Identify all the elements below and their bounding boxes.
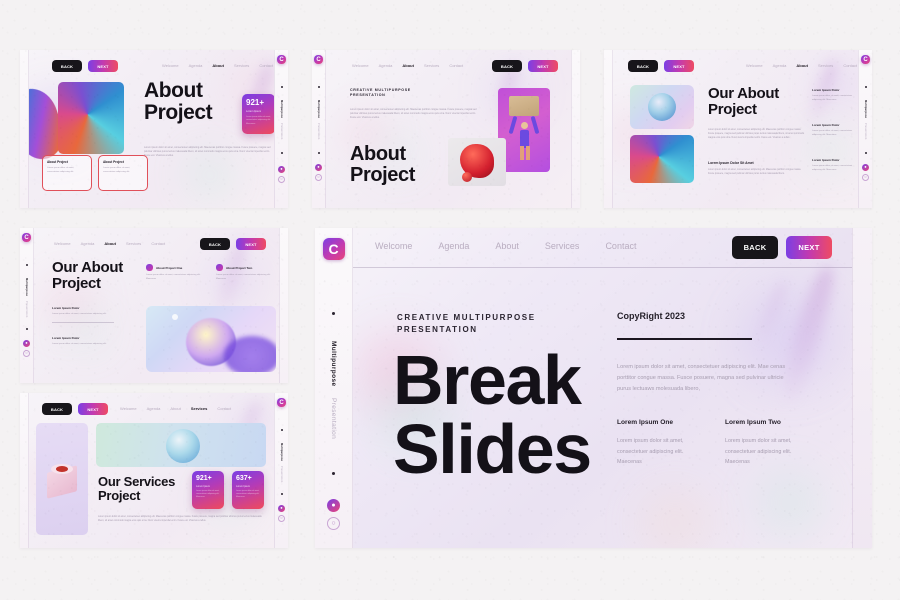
- next-button[interactable]: NEXT: [236, 238, 266, 250]
- location-pin-icon[interactable]: ○: [315, 174, 322, 181]
- column-heading: Lorem Ipsum Two: [725, 419, 805, 426]
- rail-label-bold: Multipurpose: [864, 100, 867, 118]
- nav-item-services[interactable]: Services: [234, 63, 249, 68]
- nav-item-agenda[interactable]: Agenda: [438, 241, 469, 251]
- user-avatar-icon[interactable]: ●: [278, 166, 285, 173]
- logo-letter: C: [316, 57, 320, 63]
- rail-label-bold: Multipurpose: [280, 443, 283, 461]
- column-text: Lorem ipsum dolor sit amet, consectetuer…: [617, 436, 697, 468]
- rail-right: [279, 228, 288, 383]
- rail-left: [604, 50, 613, 208]
- title-line-1: Our About: [52, 260, 123, 276]
- dot-icon: [281, 493, 283, 495]
- back-button[interactable]: BACK: [52, 60, 82, 72]
- nav-item-welcome[interactable]: Welcome: [352, 63, 369, 68]
- user-avatar-icon[interactable]: ●: [862, 164, 869, 171]
- left-item-text: Lorem ipsum dolor sit amet, consectetuer…: [52, 313, 114, 317]
- title-line-2: Project: [350, 165, 415, 186]
- logo-c-icon[interactable]: C: [277, 55, 286, 64]
- side-item-heading: Lorem Ipsum Dolor: [812, 88, 860, 92]
- rail-right: C Multipurpose Presentation ● ○: [274, 393, 288, 548]
- stat-text: Lorem ipsum dolor sit amet, consectetuer…: [196, 490, 220, 500]
- rail-right: [571, 50, 580, 208]
- dot-icon: [332, 312, 335, 315]
- kicker-line-2: PRESENTATION: [350, 93, 411, 98]
- logo-letter: C: [279, 400, 283, 406]
- nav-item-services[interactable]: Services: [818, 63, 833, 68]
- dot-icon: [332, 472, 335, 475]
- feature-item: About Project One Lorem ipsum dolor sit …: [146, 264, 206, 282]
- rail-left: C Multipurpose Presentation ● ○: [315, 228, 353, 548]
- feature-icon: [216, 264, 223, 271]
- rail-right: [852, 228, 872, 548]
- logo-c-icon[interactable]: C: [277, 398, 286, 407]
- logo-c-icon[interactable]: C: [22, 233, 31, 242]
- back-button[interactable]: BACK: [200, 238, 230, 250]
- column-text: Lorem ipsum dolor sit amet, consectetuer…: [725, 436, 805, 468]
- slide-title: Our Services Project: [98, 475, 175, 503]
- rail-label-bold: Multipurpose: [280, 100, 283, 118]
- side-item-heading: Lorem Ipsum Dolor: [812, 123, 860, 127]
- title-line-1: About: [350, 144, 415, 165]
- nav-item-agenda[interactable]: Agenda: [379, 63, 393, 68]
- rail-right: C Multipurpose Presentation ● ○: [274, 50, 288, 208]
- slide-body-text: Lorem ipsum dolor sit amet, consectetuer…: [350, 108, 478, 121]
- slide-body-text: Lorem ipsum dolor sit amet, consectetuer…: [98, 515, 264, 523]
- next-button[interactable]: NEXT: [786, 236, 832, 259]
- title-line-1: Our About: [708, 86, 779, 102]
- nav-item-welcome[interactable]: Welcome: [120, 406, 137, 411]
- side-item-heading: Lorem Ipsum Dolor: [812, 158, 860, 162]
- rail-label-light: Presentation: [330, 398, 337, 439]
- kicker-line-1: CREATIVE MULTIPURPOSE: [397, 312, 536, 324]
- title-line-2: Project: [98, 489, 175, 503]
- nav-item-contact[interactable]: Contact: [259, 63, 273, 68]
- stat-caption: Lorem Ipsum: [196, 485, 220, 488]
- slide-kicker: CREATIVE MULTIPURPOSE PRESENTATION: [350, 88, 411, 98]
- main-right-column: CopyRight 2023 Lorem ipsum dolor sit ame…: [617, 311, 807, 468]
- nav-item-about[interactable]: About: [495, 241, 519, 251]
- feature-text: Lorem ipsum dolor sit amet, consectetuer…: [146, 274, 206, 282]
- next-button[interactable]: NEXT: [664, 60, 694, 72]
- horizontal-rule: [617, 338, 752, 340]
- disc-sphere-art: [630, 135, 694, 183]
- slide-3-buttons: BACK NEXT: [628, 60, 694, 72]
- left-item: Lorem Ipsum Dolor Lorem ipsum dolor sit …: [52, 336, 114, 347]
- slide-about-project-2[interactable]: C Multipurpose Presentation ● ○ Welcome …: [312, 50, 580, 208]
- nav-item-welcome[interactable]: Welcome: [375, 241, 412, 251]
- nav-item-agenda[interactable]: Agenda: [147, 406, 161, 411]
- stat-text: Lorem ipsum dolor sit amet, consectetuer…: [246, 116, 271, 126]
- back-button[interactable]: BACK: [628, 60, 658, 72]
- slide-title: About Project: [350, 144, 415, 186]
- feature-text: Lorem ipsum dolor sit amet, consectetuer…: [216, 274, 276, 282]
- rail-label-light: Presentation: [280, 466, 283, 482]
- left-item-text: Lorem ipsum dolor sit amet, consectetuer…: [52, 343, 114, 347]
- logo-letter: C: [863, 57, 867, 63]
- title-line-2: Slides: [393, 415, 591, 484]
- slide-5-buttons: BACK NEXT: [42, 403, 108, 415]
- user-avatar-icon[interactable]: ●: [23, 340, 30, 347]
- nav-item-contact[interactable]: Contact: [151, 241, 165, 246]
- back-button[interactable]: BACK: [42, 403, 72, 415]
- rail-label-bold: Multipurpose: [317, 100, 320, 118]
- user-avatar-icon[interactable]: ●: [278, 505, 285, 512]
- side-item: Lorem Ipsum Dolor Lorem ipsum dolor sit …: [812, 158, 860, 173]
- slide-our-services-project[interactable]: C Multipurpose Presentation ● ○ BACK NEX…: [20, 393, 288, 548]
- stat-value: 921+: [246, 99, 271, 107]
- slide-2-buttons: BACK NEXT: [492, 60, 558, 72]
- location-pin-icon[interactable]: ○: [23, 350, 30, 357]
- side-item-text: Lorem ipsum dolor sit amet, consectetuer…: [812, 165, 860, 173]
- nav-item-contact[interactable]: Contact: [843, 63, 857, 68]
- next-button[interactable]: NEXT: [78, 403, 108, 415]
- location-pin-icon[interactable]: ○: [862, 174, 869, 181]
- nav-item-contact[interactable]: Contact: [605, 241, 636, 251]
- nav-item-services[interactable]: Services: [126, 241, 141, 246]
- slide-break-slides[interactable]: C Multipurpose Presentation ● ○ Welcome …: [315, 228, 872, 548]
- dot-icon: [865, 152, 867, 154]
- main-paragraph: Lorem ipsum dolor sit amet, consectetuer…: [617, 362, 795, 396]
- nav-item-about[interactable]: About: [796, 63, 808, 68]
- nav-item-services[interactable]: Services: [545, 241, 580, 251]
- rail-label-light: Presentation: [25, 301, 28, 317]
- rail-left: [20, 393, 29, 548]
- card-text: Lorem ipsum dolor sit amet, consectetuer…: [47, 167, 87, 175]
- stat-caption: Lorem Ipsum: [236, 485, 260, 488]
- title-line-2: Project: [708, 102, 779, 118]
- red-sculpture-art: [448, 138, 506, 186]
- slide-our-about-project-1[interactable]: C Multipurpose Presentation ● ○ BACK NEX…: [604, 50, 872, 208]
- rail-label-light: Presentation: [864, 123, 867, 139]
- nav-item-agenda[interactable]: Agenda: [81, 241, 95, 246]
- rail-left: C Multipurpose Presentation ● ○: [20, 228, 34, 383]
- feature-icon: [146, 264, 153, 271]
- left-item-heading: Lorem Ipsum Dolor: [52, 336, 114, 340]
- stat-text: Lorem ipsum dolor sit amet, consectetuer…: [236, 490, 260, 500]
- back-button[interactable]: BACK: [492, 60, 522, 72]
- nav-menu: Welcome Agenda About Services Contact: [54, 241, 165, 246]
- location-pin-icon[interactable]: ○: [278, 176, 285, 183]
- abstract-sphere-art: [146, 306, 276, 372]
- feature-heading: About Project One: [156, 266, 182, 270]
- disc-sphere-art: [58, 82, 124, 154]
- dot-icon: [26, 264, 28, 266]
- feature-item: About Project Two Lorem ipsum dolor sit …: [216, 264, 276, 282]
- rail-label-light: Presentation: [317, 123, 320, 139]
- card-heading: About Project: [103, 160, 143, 164]
- main-column: Lorem Ipsum One Lorem ipsum dolor sit am…: [617, 419, 697, 468]
- main-column: Lorem Ipsum Two Lorem ipsum dolor sit am…: [725, 419, 805, 468]
- side-item: Lorem Ipsum Dolor Lorem ipsum dolor sit …: [812, 88, 860, 103]
- left-item-heading: Lorem Ipsum Dolor: [52, 306, 114, 310]
- nav-menu: Welcome Agenda About Services Contact: [352, 63, 463, 68]
- nav-menu: Welcome Agenda About Services Contact: [162, 63, 273, 68]
- location-pin-icon[interactable]: ○: [278, 515, 285, 522]
- title-line-1: Break: [393, 346, 591, 415]
- card-heading: About Project: [47, 160, 87, 164]
- slide-body-text: Lorem ipsum dolor sit amet, consectetuer…: [708, 128, 806, 140]
- rail-left: [20, 50, 29, 208]
- nav-menu: Welcome Agenda About Services Contact: [746, 63, 857, 68]
- logo-c-icon[interactable]: C: [323, 238, 345, 260]
- next-button[interactable]: NEXT: [528, 60, 558, 72]
- globe-art: [630, 85, 694, 129]
- rail-label-light: Presentation: [280, 123, 283, 139]
- feature-heading: About Project Two: [226, 266, 252, 270]
- outline-card: About Project Lorem ipsum dolor sit amet…: [42, 155, 92, 191]
- stat-value: 637+: [236, 475, 260, 482]
- globe-banner-art: [96, 423, 266, 467]
- main-title: Break Slides: [393, 346, 591, 483]
- dot-icon: [26, 328, 28, 330]
- dot-icon: [318, 152, 320, 154]
- user-avatar-icon[interactable]: ●: [315, 164, 322, 171]
- nav-item-about[interactable]: About: [212, 63, 224, 68]
- title-line-1: Our Services: [98, 475, 175, 489]
- left-item: Lorem Ipsum Dolor Lorem ipsum dolor sit …: [52, 306, 114, 322]
- dot-icon: [281, 152, 283, 154]
- dot-icon: [281, 86, 283, 88]
- nav-item-about[interactable]: About: [402, 63, 414, 68]
- nav-item-agenda[interactable]: Agenda: [189, 63, 203, 68]
- cube-art-panel: [36, 423, 88, 535]
- rail-right: C Multipurpose Presentation ● ○: [858, 50, 872, 208]
- card-text: Lorem ipsum dolor sit amet, consectetuer…: [103, 167, 143, 175]
- title-line-2: Project: [144, 102, 212, 124]
- side-item: Lorem Ipsum Dolor Lorem ipsum dolor sit …: [812, 123, 860, 138]
- stat-card: 921+ Lorem Ipsum Lorem ipsum dolor sit a…: [192, 471, 224, 509]
- nav-item-welcome[interactable]: Welcome: [54, 241, 71, 246]
- slide-title: Our About Project: [52, 260, 123, 292]
- nav-menu: Welcome Agenda About Services Contact: [375, 241, 636, 251]
- title-line-2: Project: [52, 276, 123, 292]
- copyright-label: CopyRight 2023: [617, 311, 807, 321]
- main-buttons: BACK NEXT: [732, 236, 832, 259]
- dot-icon: [281, 429, 283, 431]
- slide-title: About Project: [144, 80, 212, 125]
- header-divider: [353, 267, 852, 268]
- nav-item-about[interactable]: About: [170, 406, 180, 411]
- location-pin-icon[interactable]: ○: [327, 517, 340, 530]
- slide-sub-text: Lorem ipsum dolor sit amet, consectetuer…: [708, 168, 806, 176]
- side-item-text: Lorem ipsum dolor sit amet, consectetuer…: [812, 95, 860, 103]
- logo-c-icon[interactable]: C: [861, 55, 870, 64]
- stat-caption: Lorem Ipsum: [246, 110, 271, 113]
- logo-letter: C: [24, 235, 28, 241]
- outline-card: About Project Lorem ipsum dolor sit amet…: [98, 155, 148, 191]
- next-button[interactable]: NEXT: [88, 60, 118, 72]
- nav-item-services[interactable]: Services: [424, 63, 439, 68]
- slide-our-about-project-2[interactable]: C Multipurpose Presentation ● ○ Welcome …: [20, 228, 288, 383]
- nav-menu: Welcome Agenda About Services Contact: [120, 406, 231, 411]
- nav-item-agenda[interactable]: Agenda: [773, 63, 787, 68]
- nav-item-contact[interactable]: Contact: [217, 406, 231, 411]
- rail-left: C Multipurpose Presentation ● ○: [312, 50, 326, 208]
- rail-label-bold: Multipurpose: [25, 278, 28, 296]
- user-avatar-icon[interactable]: ●: [327, 499, 340, 512]
- dot-icon: [318, 86, 320, 88]
- nav-item-services[interactable]: Services: [191, 406, 207, 411]
- nav-item-welcome[interactable]: Welcome: [162, 63, 179, 68]
- main-kicker: CREATIVE MULTIPURPOSE PRESENTATION: [397, 312, 536, 335]
- nav-item-contact[interactable]: Contact: [449, 63, 463, 68]
- stat-card: 921+ Lorem Ipsum Lorem ipsum dolor sit a…: [242, 94, 275, 134]
- nav-item-about[interactable]: About: [104, 241, 116, 246]
- stat-card: 637+ Lorem Ipsum Lorem ipsum dolor sit a…: [232, 471, 264, 509]
- column-heading: Lorem Ipsum One: [617, 419, 697, 426]
- logo-c-icon[interactable]: C: [314, 55, 323, 64]
- logo-letter: C: [279, 57, 283, 63]
- back-button[interactable]: BACK: [732, 236, 778, 259]
- slide-1-buttons: BACK NEXT: [52, 60, 118, 72]
- kicker-line-2: PRESENTATION: [397, 324, 536, 336]
- stat-value: 921+: [196, 475, 220, 482]
- slide-title: Our About Project: [708, 86, 779, 118]
- slide-body-text: Lorem ipsum dolor sit amet, consectetuer…: [144, 146, 272, 159]
- slide-4-buttons: BACK NEXT: [200, 238, 266, 250]
- slide-sub-heading: Lorem Ipsum Dolor Sit Amet: [708, 161, 754, 165]
- logo-letter: C: [328, 242, 338, 256]
- side-item-text: Lorem ipsum dolor sit amet, consectetuer…: [812, 130, 860, 138]
- nav-item-welcome[interactable]: Welcome: [746, 63, 763, 68]
- slide-deck-canvas: C Multipurpose Presentation ● ○ BACK NEX…: [0, 0, 900, 600]
- title-line-1: About: [144, 80, 212, 102]
- slide-about-project-1[interactable]: C Multipurpose Presentation ● ○ BACK NEX…: [20, 50, 288, 208]
- dot-icon: [865, 86, 867, 88]
- rail-label-bold: Multipurpose: [330, 341, 337, 386]
